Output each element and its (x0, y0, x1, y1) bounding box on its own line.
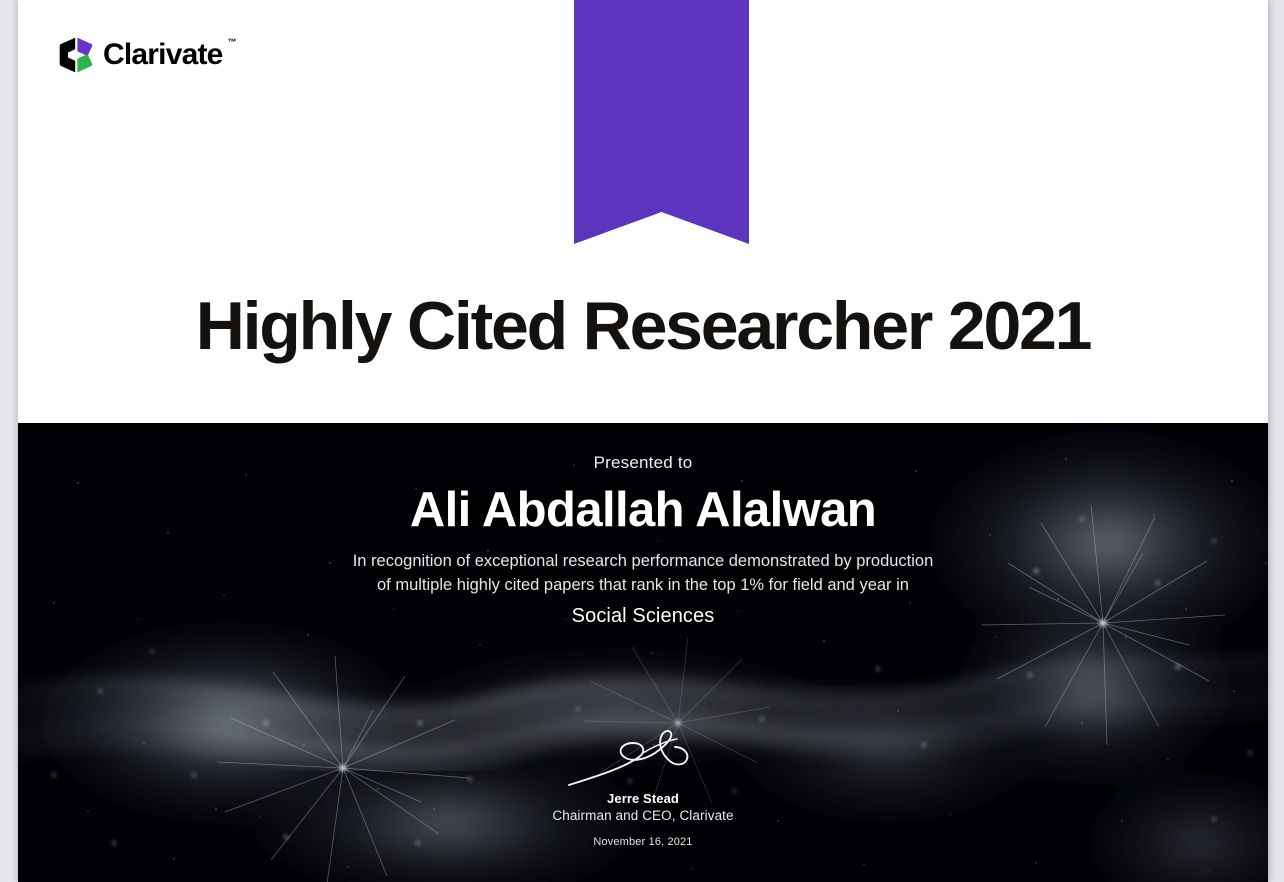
page-title: Highly Cited Researcher 2021 (18, 292, 1268, 360)
award-details: Presented to Ali Abdallah Alalwan In rec… (18, 423, 1268, 882)
certificate-award-section: Presented to Ali Abdallah Alalwan In rec… (18, 423, 1268, 882)
recognition-line-1: In recognition of exceptional research p… (18, 550, 1268, 574)
signer-title: Chairman and CEO, Clarivate (18, 808, 1268, 823)
presented-to-label: Presented to (18, 453, 1268, 473)
recognition-statement: In recognition of exceptional research p… (18, 550, 1268, 598)
page-viewport: Clarivate™ Highly Cited Researcher 2021 (0, 0, 1284, 882)
recipient-name: Ali Abdallah Alalwan (18, 483, 1268, 538)
handwritten-signature-icon (543, 723, 743, 793)
recognition-line-2: of multiple highly cited papers that ran… (18, 574, 1268, 598)
clarivate-hexagon-logo-icon (58, 36, 94, 74)
certificate-header-section: Clarivate™ Highly Cited Researcher 2021 (18, 0, 1268, 423)
certificate-document: Clarivate™ Highly Cited Researcher 2021 (18, 0, 1268, 882)
purple-ribbon-banner-icon (574, 0, 749, 244)
issue-date: November 16, 2021 (18, 836, 1268, 848)
clarivate-wordmark: Clarivate™ (103, 40, 223, 70)
field-category: Social Sciences (18, 605, 1268, 628)
clarivate-logo: Clarivate™ (58, 36, 223, 74)
clarivate-wordmark-text: Clarivate (103, 38, 223, 71)
signer-name: Jerre Stead (18, 791, 1268, 806)
trademark-symbol: ™ (228, 38, 237, 47)
